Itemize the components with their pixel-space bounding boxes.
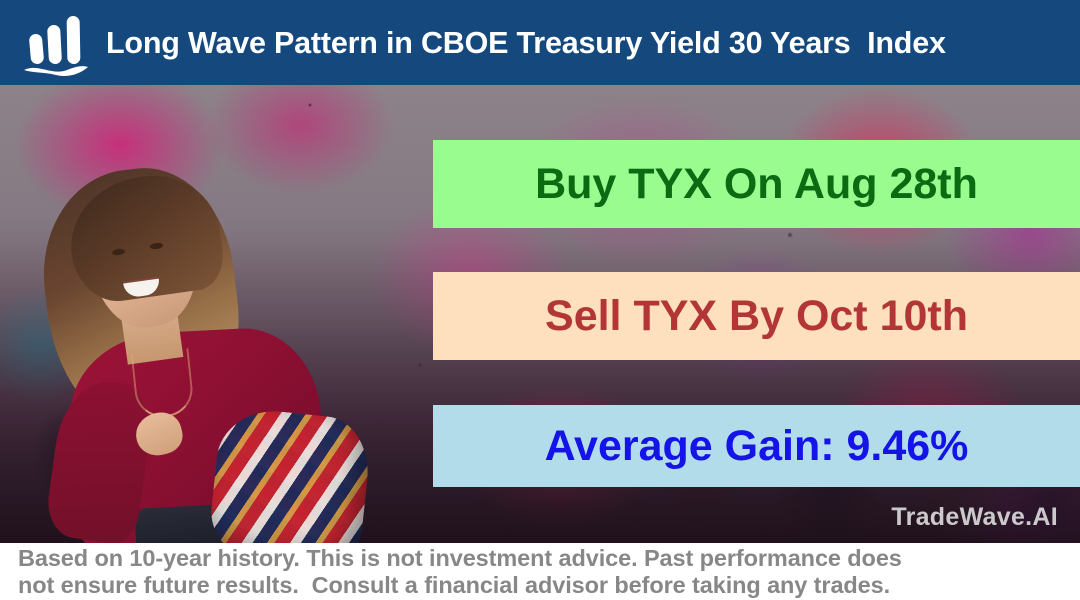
disclaimer-footer: Based on 10-year history. This is not in… [0, 543, 1080, 600]
header-bar: Long Wave Pattern in CBOE Treasury Yield… [0, 0, 1080, 85]
page-title: Long Wave Pattern in CBOE Treasury Yield… [106, 28, 946, 59]
bar-chart-wave-logo-icon [22, 10, 96, 76]
callout-gain-text: Average Gain: 9.46% [545, 425, 969, 468]
callout-buy-signal: Buy TYX On Aug 28th [433, 140, 1080, 228]
promo-poster: Long Wave Pattern in CBOE Treasury Yield… [0, 0, 1080, 600]
disclaimer-line-2: not ensure future results. Consult a fin… [0, 572, 1080, 599]
callout-buy-text: Buy TYX On Aug 28th [535, 163, 978, 206]
callout-average-gain: Average Gain: 9.46% [433, 405, 1080, 487]
callout-sell-text: Sell TYX By Oct 10th [545, 295, 968, 338]
disclaimer-line-1: Based on 10-year history. This is not in… [0, 545, 1080, 572]
plaid-scarf [207, 405, 374, 543]
woman-figure [28, 113, 358, 543]
callout-sell-signal: Sell TYX By Oct 10th [433, 272, 1080, 360]
